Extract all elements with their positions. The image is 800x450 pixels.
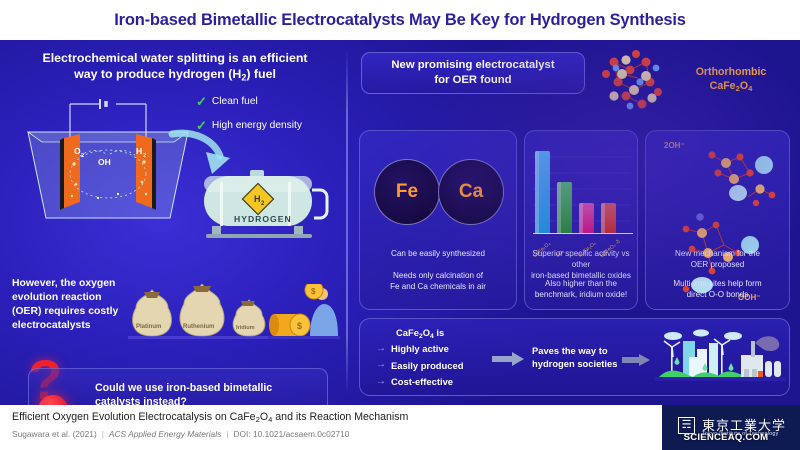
svg-text:OH: OH	[98, 157, 111, 167]
mechanism-caption-2-line1: Multi-iron sites help form	[673, 279, 761, 288]
however-line3: (OER) requires costly	[12, 306, 118, 317]
summary-item-label: Easily produced	[391, 360, 463, 371]
svg-text:2: 2	[143, 153, 146, 159]
bar-bafeo3	[601, 203, 616, 233]
chart-caption-2-line1: Also higher than the	[545, 279, 617, 288]
however-line1: However, the oxygen	[12, 278, 115, 289]
column-divider	[346, 50, 348, 395]
synthesis-caption-2-line2: Fe and Ca chemicals in air	[390, 282, 486, 291]
benefits-list: ✓ Clean fuel ✓ High energy density	[196, 95, 342, 143]
left-headline-line2b: ) fuel	[246, 67, 276, 81]
synthesis-caption-1: Can be easily synthesized	[360, 249, 516, 260]
question-text: Could we use iron-based bimetallic catal…	[95, 381, 272, 405]
svg-text:$: $	[311, 287, 316, 296]
mechanism-caption-2: Multi-iron sites help form direct O-O bo…	[646, 279, 789, 301]
left-headline-line1: Electrochemical water splitting is an ef…	[42, 51, 307, 65]
summary-item-label: Cost-effective	[391, 376, 453, 387]
orthorhombic-label: Orthorhombic CaFe2O4	[672, 65, 790, 95]
watermark: SCIENCEAQ.COM	[652, 432, 800, 443]
mechanism-caption-1: New mechanism for the OER proposed	[646, 249, 789, 271]
question-line2: catalysts instead?	[95, 396, 187, 405]
bar-group	[535, 151, 631, 233]
svg-text:H: H	[254, 194, 261, 204]
summary-title-b: O	[423, 327, 430, 338]
element-circle-fe: Fe	[374, 159, 440, 225]
however-line4: electrocatalysts	[12, 320, 91, 331]
paper-title-c: and its Reaction Mechanism	[272, 411, 408, 423]
summary-title-a: CaFe	[396, 327, 419, 338]
svg-text:O: O	[74, 146, 81, 156]
summary-title-c: is	[434, 327, 444, 338]
arrow-right-icon: →	[376, 344, 386, 354]
card-activity-chart: CaFe₂O₄ IrO₂ Sr₂Fe₂O₅ BaFeO₃₋δ Superior …	[524, 130, 638, 310]
paper-meta: Sugawara et al. (2021)|ACS Applied Energ…	[12, 429, 349, 439]
check-icon: ✓	[196, 95, 207, 108]
svg-text:Iridium: Iridium	[236, 325, 255, 331]
title-bar: Iron-based Bimetallic Electrocatalysts M…	[0, 0, 800, 40]
page-title: Iron-based Bimetallic Electrocatalysts M…	[114, 11, 686, 30]
mechanism-caption-2-line2: direct O-O bonds	[687, 290, 749, 299]
chart-axis-line	[533, 233, 633, 235]
outcome-line1: Paves the way to	[532, 345, 608, 356]
check-icon: ✓	[196, 119, 207, 132]
paper-journal: ACS Applied Energy Materials	[109, 429, 221, 439]
however-line2: evolution reaction	[12, 292, 102, 303]
bar-chart: CaFe₂O₄ IrO₂ Sr₂Fe₂O₅ BaFeO₃₋δ	[531, 143, 633, 261]
outcome-line2: hydrogen societies	[532, 358, 617, 369]
crystal-structure-icon	[596, 48, 676, 114]
promise-text: New promising electrocatalyst for OER fo…	[391, 58, 554, 87]
hydrogen-society-illustration	[655, 327, 785, 389]
chart-caption-2-line2: benchmark, iridium oxide!	[535, 290, 627, 299]
promise-line1: New promising electrocatalyst	[391, 59, 554, 71]
svg-text:Platinum: Platinum	[136, 324, 161, 330]
institution-logo: ☴ 東京工業大学 Tokyo Institute of Technology	[660, 405, 800, 450]
paper-doi: DOI: 10.1021/acsaem.0c02710	[233, 429, 349, 439]
card-mechanism: 2OH⁻ OOH⁻	[645, 130, 790, 310]
logo-divider	[660, 405, 662, 450]
promise-line2: for OER found	[434, 74, 511, 86]
element-circle-ca: Ca	[438, 159, 504, 225]
city-arrow-icon	[622, 353, 650, 371]
svg-text:Ruthenium: Ruthenium	[183, 324, 214, 330]
question-line1: Could we use iron-based bimetallic	[95, 382, 272, 394]
mechanism-caption-1-line2: OER proposed	[691, 260, 745, 269]
paper-title-a: Efficient Oxygen Evolution Electrocataly…	[12, 411, 256, 423]
poster-body: Electrochemical water splitting is an ef…	[0, 40, 800, 405]
hydrogen-tank-illustration: H 2 HYDROGEN	[196, 170, 332, 244]
arrow-right-icon: →	[376, 360, 386, 370]
chart-caption-2: Also higher than the benchmark, iridium …	[525, 279, 637, 301]
chart-caption-1-line1: Superior specific activity vs other	[532, 249, 629, 269]
bar-sr2fe2o5	[579, 203, 594, 233]
chart-caption-1: Superior specific activity vs other iron…	[525, 249, 637, 282]
left-headline: Electrochemical water splitting is an ef…	[14, 50, 336, 85]
bar-cafe2o4	[535, 151, 550, 233]
summary-card: CaFe2O4 is → Highly active → Easily prod…	[359, 318, 790, 396]
infographic-root: Iron-based Bimetallic Electrocatalysts M…	[0, 0, 800, 450]
meta-separator: |	[97, 429, 109, 439]
svg-text:$: $	[297, 321, 302, 331]
benefit-label: High energy density	[212, 120, 302, 131]
svg-text:2: 2	[81, 153, 84, 159]
left-headline-line2a: way to produce hydrogen (H	[74, 67, 241, 81]
meta-separator: |	[221, 429, 233, 439]
synthesis-caption-2-line1: Needs only calcination of	[393, 271, 483, 280]
summary-title: CaFe2O4 is	[396, 327, 444, 340]
summary-item-label: Highly active	[391, 343, 449, 354]
card-synthesis: Fe Ca Can be easily synthesized Needs on…	[359, 130, 517, 310]
costly-catalysts-illustration: Platinum Ruthenium Iridium $ $	[128, 284, 340, 346]
benefit-label: Clean fuel	[212, 96, 258, 107]
paper-authors: Sugawara et al. (2021)	[12, 429, 97, 439]
big-arrow-icon	[492, 352, 524, 371]
bar-iro2	[557, 182, 572, 233]
synthesis-caption-2: Needs only calcination of Fe and Ca chem…	[360, 271, 516, 293]
arrow-right-icon: →	[376, 377, 386, 387]
benefit-item: ✓ Clean fuel	[196, 95, 342, 108]
promising-electrocatalyst-banner: New promising electrocatalyst for OER fo…	[361, 52, 585, 94]
paper-title-b: O	[260, 411, 268, 423]
summary-item: → Cost-effective	[376, 376, 463, 387]
question-card: Could we use iron-based bimetallic catal…	[28, 368, 328, 405]
paper-title: Efficient Oxygen Evolution Electrocataly…	[12, 411, 408, 424]
orthorhombic-formula-sub2: 4	[748, 84, 752, 93]
summary-item: → Easily produced	[376, 360, 463, 371]
summary-item: → Highly active	[376, 343, 463, 354]
orthorhombic-formula-a: CaFe	[710, 80, 736, 92]
svg-text:HYDROGEN: HYDROGEN	[234, 214, 292, 224]
orthorhombic-word: Orthorhombic	[696, 66, 767, 78]
benefit-item: ✓ High energy density	[196, 119, 342, 132]
orthorhombic-formula-b: O	[740, 80, 748, 92]
summary-list: → Highly active → Easily produced → Cost…	[376, 343, 463, 393]
mechanism-caption-1-line1: New mechanism for the	[675, 249, 760, 258]
svg-text:H: H	[136, 146, 142, 156]
